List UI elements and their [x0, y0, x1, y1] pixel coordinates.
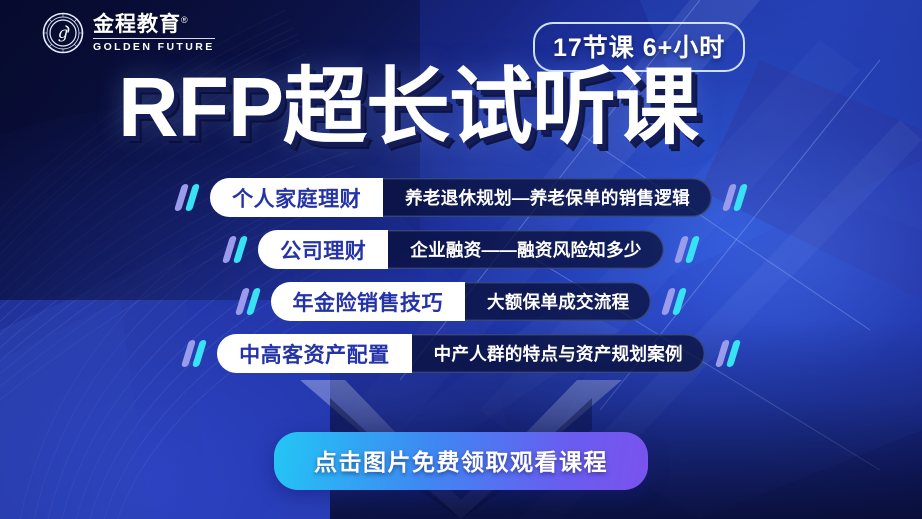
double-slash-icon	[225, 288, 271, 315]
circular-seal-icon: g	[42, 12, 84, 54]
course-category: 个人家庭理财	[210, 178, 383, 217]
course-category: 公司理财	[258, 230, 388, 269]
double-slash-icon	[212, 236, 258, 263]
course-topic: 养老退休规划—养老保单的销售逻辑	[383, 178, 712, 217]
page-title: RFP超长试听课	[118, 63, 698, 151]
course-topic: 中产人群的特点与资产规划案例	[412, 334, 705, 373]
double-slash-icon	[651, 288, 697, 315]
course-topic: 企业融资——融资风险知多少	[388, 230, 663, 269]
double-slash-icon	[171, 340, 217, 367]
brand-logo[interactable]: g 金程教育® GOLDEN FUTURE	[42, 12, 215, 54]
cta-button[interactable]: 点击图片免费领取观看课程	[274, 432, 648, 490]
registered-mark: ®	[181, 15, 189, 25]
course-category: 年金险销售技巧	[271, 282, 466, 321]
promo-banner: g 金程教育® GOLDEN FUTURE 17节课 6+小时 RFP超长试听课…	[0, 0, 922, 519]
brand-name-cn: 金程教育®	[93, 14, 215, 35]
course-category: 中高客资产配置	[217, 334, 412, 373]
double-slash-icon	[664, 236, 710, 263]
double-slash-icon	[705, 340, 751, 367]
brand-wordmark: 金程教育® GOLDEN FUTURE	[93, 14, 215, 53]
double-slash-icon	[164, 184, 210, 211]
brand-divider	[93, 38, 215, 39]
list-item[interactable]: 公司理财 企业融资——融资风险知多少	[0, 228, 922, 271]
course-pill[interactable]: 公司理财 企业融资——融资风险知多少	[258, 230, 663, 269]
course-list: 个人家庭理财 养老退休规划—养老保单的销售逻辑 公司理财 企业融资——融资风险知…	[0, 176, 922, 384]
list-item[interactable]: 年金险销售技巧 大额保单成交流程	[0, 280, 922, 323]
list-item[interactable]: 个人家庭理财 养老退休规划—养老保单的销售逻辑	[0, 176, 922, 219]
course-pill[interactable]: 年金险销售技巧 大额保单成交流程	[271, 282, 652, 321]
list-item[interactable]: 中高客资产配置 中产人群的特点与资产规划案例	[0, 332, 922, 375]
course-topic: 大额保单成交流程	[465, 282, 651, 321]
course-pill[interactable]: 个人家庭理财 养老退休规划—养老保单的销售逻辑	[210, 178, 712, 217]
brand-name-en: GOLDEN FUTURE	[93, 42, 215, 53]
course-pill[interactable]: 中高客资产配置 中产人群的特点与资产规划案例	[217, 334, 705, 373]
double-slash-icon	[712, 184, 758, 211]
